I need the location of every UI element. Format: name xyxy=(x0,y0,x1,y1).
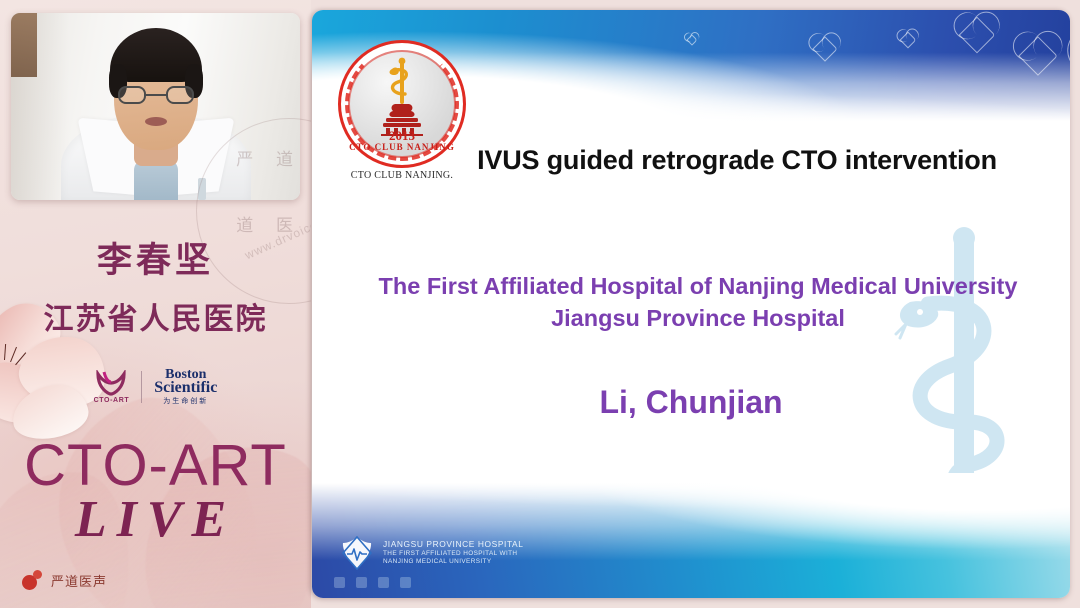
hospital-name-line-1: JIANGSU PROVINCE HOSPITAL xyxy=(383,539,524,550)
hospital-logo-text: JIANGSU PROVINCE HOSPITAL THE FIRST AFFI… xyxy=(383,539,524,566)
hospital-name-line-3: NANJING MEDICAL UNIVERSITY xyxy=(383,558,524,566)
broadcaster-label: 严道医声 xyxy=(51,571,107,590)
hospital-mark-icon xyxy=(340,536,374,570)
forward-arrow-icon xyxy=(400,577,411,588)
eyeglass-left xyxy=(118,86,146,104)
eyeglass-bridge xyxy=(146,94,166,96)
speaker-name: 李春坚 xyxy=(0,232,311,283)
speaker-info-panel: 李春坚 江苏省人民医院 CTO-ART Boston Scientific 为生… xyxy=(0,0,311,608)
boston-scientific-logo: Boston Scientific 为生命创新 xyxy=(154,368,217,405)
broadcaster-logo: 严道医声 xyxy=(22,570,107,590)
mouth xyxy=(145,117,167,126)
eyeglass-right xyxy=(166,86,194,104)
program-title: CTO-ART xyxy=(0,432,311,499)
back-arrow-icon xyxy=(334,577,345,588)
hospital-name-line-2: THE FIRST AFFILIATED HOSPITAL WITH xyxy=(383,550,524,558)
inner-shirt xyxy=(134,160,178,200)
hospital-logo: JIANGSU PROVINCE HOSPITAL THE FIRST AFFI… xyxy=(340,536,524,570)
slide-footer-banner: JIANGSU PROVINCE HOSPITAL THE FIRST AFFI… xyxy=(312,473,1070,598)
cto-art-mark-icon xyxy=(94,370,128,396)
id-badge xyxy=(198,178,206,200)
speaker-organization: 江苏省人民医院 xyxy=(0,294,311,338)
rod-of-asclepius-icon xyxy=(894,216,1034,516)
speaker-video-tile[interactable] xyxy=(11,13,300,200)
boston-tagline-cn: 为生命创新 xyxy=(163,398,208,405)
program-subtitle: LIVE xyxy=(0,490,311,549)
slide-author: Li, Chunjian xyxy=(312,384,1070,421)
scientific-label: Scientific xyxy=(154,380,217,396)
slide-affiliation: The First Affiliated Hospital of Nanjing… xyxy=(334,270,1062,335)
affiliation-line-2: Jiangsu Province Hospital xyxy=(334,302,1062,334)
door-frame xyxy=(11,13,37,77)
slide-title: IVUS guided retrograde CTO intervention xyxy=(422,145,1052,176)
presentation-slide[interactable]: 2013 CTO CLUB NANJING CTO CLUB NANJING. … xyxy=(312,10,1070,598)
broadcast-screen: 李春坚 江苏省人民医院 CTO-ART Boston Scientific 为生… xyxy=(0,0,1080,608)
sponsor-divider xyxy=(141,371,142,403)
speaker-figure xyxy=(56,40,256,200)
sponsor-logos: CTO-ART Boston Scientific 为生命创新 xyxy=(0,368,311,405)
cto-art-logo-label: CTO-ART xyxy=(94,397,130,404)
broadcaster-mark-icon xyxy=(22,570,44,590)
affiliation-line-1: The First Affiliated Hospital of Nanjing… xyxy=(334,270,1062,302)
footer-nav-icons xyxy=(334,577,411,588)
cto-art-logo: CTO-ART xyxy=(94,370,130,404)
square-icon xyxy=(378,577,389,588)
pen-icon xyxy=(356,577,367,588)
